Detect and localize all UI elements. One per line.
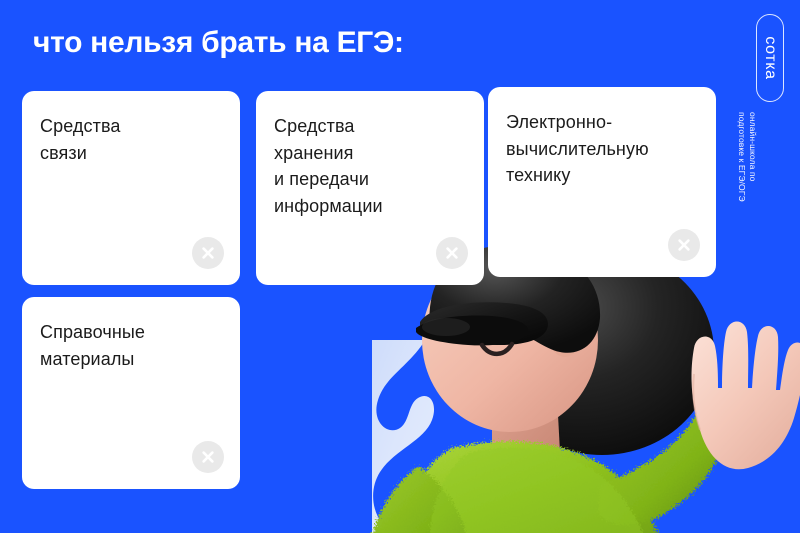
circle-x-icon xyxy=(192,441,224,473)
circle-x-icon xyxy=(192,237,224,269)
card-label: Электронно- вычислительную технику xyxy=(506,109,700,189)
prohibited-item-card[interactable]: Средства связи xyxy=(22,91,240,285)
brand-tagline: онлайн-школа по подготовке к ЕГЭ/ОГЭ xyxy=(736,112,758,232)
circle-x-icon xyxy=(436,237,468,269)
brand-block: сотка онлайн-школа по подготовке к ЕГЭ/О… xyxy=(738,0,800,260)
prohibited-item-card[interactable]: Справочные материалы xyxy=(22,297,240,489)
page-title: что нельзя брать на ЕГЭ: xyxy=(33,26,404,60)
poster-root: что нельзя брать на ЕГЭ: Средства связи … xyxy=(0,0,800,533)
circle-x-icon xyxy=(668,229,700,261)
card-label: Средства хранения и передачи информации xyxy=(274,113,468,219)
sotka-logo-text: сотка xyxy=(761,36,779,79)
prohibited-item-card[interactable]: Средства хранения и передачи информации xyxy=(256,91,484,285)
card-label: Справочные материалы xyxy=(40,319,224,372)
prohibited-item-card[interactable]: Электронно- вычислительную технику xyxy=(488,87,716,277)
sotka-logo: сотка xyxy=(756,14,784,102)
swoosh-decoration xyxy=(372,340,502,533)
card-label: Средства связи xyxy=(40,113,224,166)
